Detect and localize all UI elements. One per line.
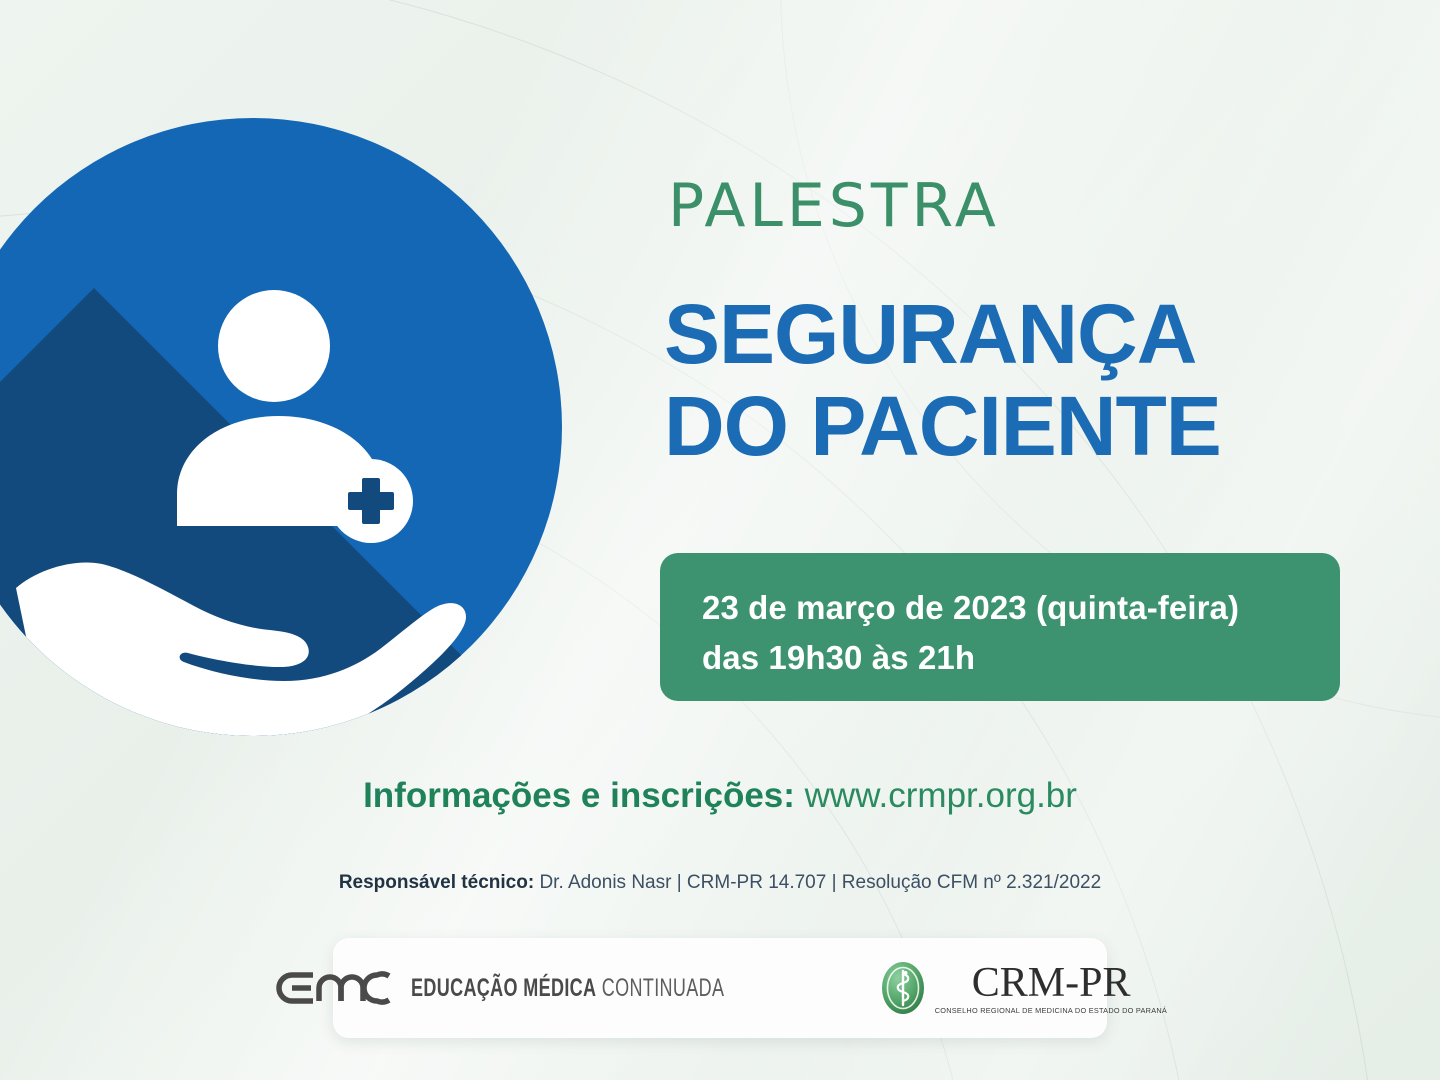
event-date-line: 23 de março de 2023 (quinta-feira) (702, 583, 1340, 633)
asclepius-staff-icon (880, 960, 926, 1016)
emc-tagline: EDUCAÇÃO MÉDICA CONTINUADA (411, 974, 724, 1003)
registration-info: Informações e inscrições: www.crmpr.org.… (0, 775, 1440, 817)
emc-tagline-light: CONTINUADA (602, 974, 725, 1002)
registration-label: Informações e inscrições: (363, 776, 795, 815)
registration-url[interactable]: www.crmpr.org.br (805, 776, 1077, 815)
hand-holding-patient-plus-icon (0, 118, 562, 736)
emc-tagline-bold: EDUCAÇÃO MÉDICA (411, 974, 596, 1002)
background-light-band-secondary (514, 0, 1440, 1080)
page-title-line-2: DO PACIENTE (664, 380, 1364, 472)
crm-pr-subtitle: CONSELHO REGIONAL DE MEDICINA DO ESTADO … (935, 1007, 1167, 1014)
page-title: SEGURANÇA DO PACIENTE (664, 288, 1364, 473)
crm-pr-text: CRM-PR CONSELHO REGIONAL DE MEDICINA DO … (937, 962, 1165, 1014)
technical-responsible-label: Responsável técnico: (339, 872, 534, 893)
page-kicker: PALESTRA (668, 176, 1000, 236)
event-date-box: 23 de março de 2023 (quinta-feira) das 1… (660, 553, 1340, 701)
poster-canvas: PALESTRA SEGURANÇA DO PACIENTE 23 de mar… (0, 0, 1440, 1080)
crm-pr-name: CRM-PR (972, 962, 1131, 1004)
technical-responsible: Responsável técnico: Dr. Adonis Nasr | C… (0, 871, 1440, 896)
emc-logo: EDUCAÇÃO MÉDICA CONTINUADA (275, 965, 846, 1011)
emc-logo-icon (275, 965, 393, 1011)
technical-responsible-value: Dr. Adonis Nasr | CRM-PR 14.707 | Resolu… (539, 872, 1101, 893)
page-title-line-1: SEGURANÇA (664, 287, 1196, 381)
event-time-line: das 19h30 às 21h (702, 633, 1340, 683)
footer-logo-bar: EDUCAÇÃO MÉDICA CONTINUADA (333, 938, 1107, 1038)
crm-pr-logo: CRM-PR CONSELHO REGIONAL DE MEDICINA DO … (880, 960, 1165, 1016)
